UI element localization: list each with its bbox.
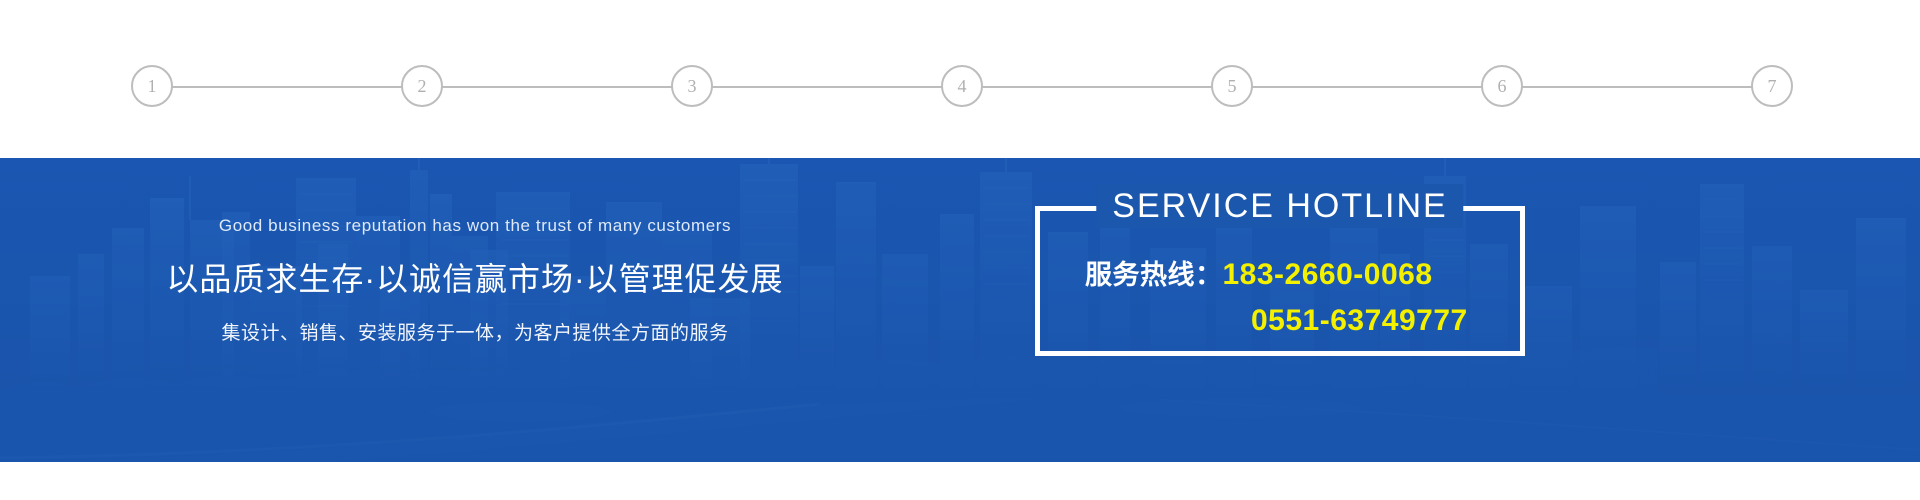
pagination-dot-label: 3 bbox=[687, 76, 696, 96]
pagination-dot-label: 6 bbox=[1497, 76, 1506, 96]
pagination-dot-label: 1 bbox=[148, 76, 157, 96]
pagination-dot-1[interactable]: 1 bbox=[131, 65, 173, 107]
hotline-row-secondary: 0551-63749777 bbox=[1085, 298, 1525, 344]
pagination-dot-4[interactable]: 4 bbox=[941, 65, 983, 107]
pagination-track: 1 2 3 4 5 6 7 bbox=[152, 86, 1772, 87]
hotline-body: 服务热线：183-2660-0068 0551-63749777 bbox=[1035, 252, 1525, 344]
slogan-block: Good business reputation has won the tru… bbox=[0, 216, 950, 345]
slogan-headline: 以品质求生存·以诚信赢市场·以管理促发展 bbox=[0, 254, 950, 300]
pagination-dot-label: 7 bbox=[1768, 76, 1777, 96]
pagination-dot-6[interactable]: 6 bbox=[1481, 65, 1523, 107]
pagination-strip: 1 2 3 4 5 6 7 bbox=[0, 0, 1920, 158]
hotline-label: 服务热线： bbox=[1085, 260, 1223, 290]
slogan-subtitle: 集设计、销售、安装服务于一体，为客户提供全方面的服务 bbox=[0, 318, 950, 345]
hotline-number-secondary[interactable]: 0551-63749777 bbox=[1251, 304, 1468, 337]
pagination-dot-7[interactable]: 7 bbox=[1751, 65, 1793, 107]
hotline-number-primary[interactable]: 183-2660-0068 bbox=[1223, 258, 1433, 291]
slogan-english: Good business reputation has won the tru… bbox=[0, 216, 950, 236]
hero-banner: Good business reputation has won the tru… bbox=[0, 158, 1920, 462]
pagination-dot-2[interactable]: 2 bbox=[401, 65, 443, 107]
promo-banner-page: 1 2 3 4 5 6 7 bbox=[0, 0, 1920, 500]
hotline-row-primary: 服务热线：183-2660-0068 bbox=[1085, 252, 1525, 298]
pagination-dot-label: 2 bbox=[417, 76, 426, 96]
pagination-dot-label: 4 bbox=[958, 76, 967, 96]
pagination-dot-label: 5 bbox=[1227, 76, 1236, 96]
pagination-dot-3[interactable]: 3 bbox=[671, 65, 713, 107]
hotline-title: SERVICE HOTLINE bbox=[1096, 184, 1463, 228]
pagination-dot-5[interactable]: 5 bbox=[1211, 65, 1253, 107]
hotline-block: SERVICE HOTLINE 服务热线：183-2660-0068 0551-… bbox=[1035, 206, 1525, 356]
